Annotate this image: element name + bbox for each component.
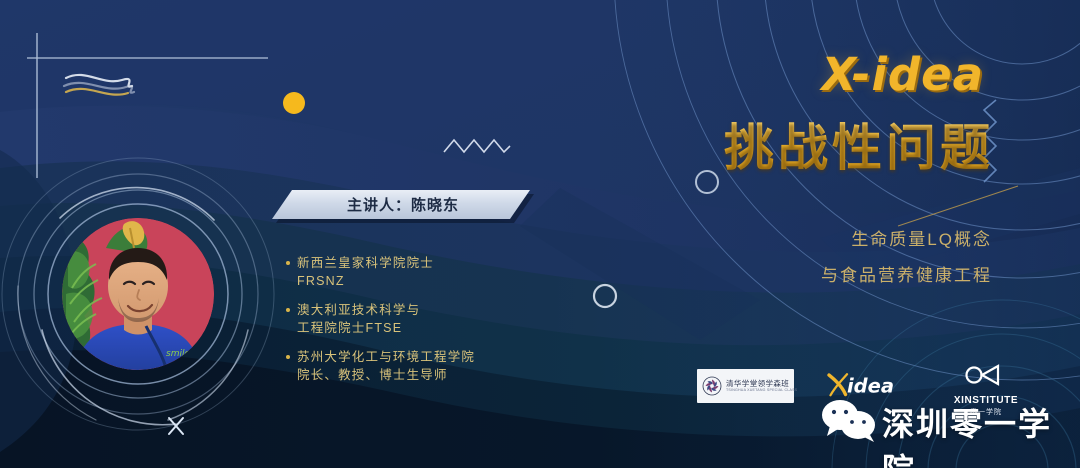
subtitle-line-1: 生命质量LQ概念 [821,222,992,258]
bullet-dot-icon [286,308,290,312]
xinstitute-bowtie-icon [944,362,1028,388]
list-item: 苏州大学化工与环境工程学院 院长、教授、博士生导师 [286,348,536,384]
tsinghua-name-en: TSINGHUA XUETANG SPECIAL CLASS [726,388,797,393]
credential-line: 澳大利亚技术科学与 [297,301,420,319]
yellow-dot [283,92,305,114]
bullet-dot-icon [286,261,290,265]
speaker-name-banner: 主讲人：陈晓东 [272,190,530,219]
page-title: 挑战性问题 [724,108,994,180]
xidea-logo: idea [826,372,916,398]
credential-line: 苏州大学化工与环境工程学院 [297,348,475,366]
brand-title: X-idea [821,48,984,101]
credential-line: FRSNZ [297,272,434,290]
credential-text: 苏州大学化工与环境工程学院 院长、教授、博士生导师 [297,348,475,384]
bullet-dot-icon [286,355,290,359]
wechat-name-cn: 深圳零一学院 [882,399,1080,468]
zigzag-horizontal [444,140,510,152]
speaker-portrait: smile [62,218,214,370]
ring-under-title [696,171,718,193]
tsinghua-text: 清华学堂领学森班 TSINGHUA XUETANG SPECIAL CLASS [726,379,797,393]
squiggle-decor [64,75,134,95]
xidea-wordmark-icon: idea [826,372,916,398]
poster-canvas: smile 主讲人：陈晓东 新西兰皇家科学院院士 FRSNZ 澳大利亚技术科学与… [0,0,1080,468]
wechat-icon [820,398,878,442]
tsinghua-name-cn: 清华学堂领学森班 [726,379,797,388]
svg-text:idea: idea [847,374,894,397]
wechat-account: 深圳零一学院 [820,398,1080,446]
list-item: 澳大利亚技术科学与 工程院院士FTSE [286,301,536,337]
credentials-list: 新西兰皇家科学院院士 FRSNZ 澳大利亚技术科学与 工程院院士FTSE 苏州大… [286,254,536,395]
credential-line: 新西兰皇家科学院院士 [297,254,434,272]
list-item: 新西兰皇家科学院院士 FRSNZ [286,254,536,290]
credential-line: 工程院院士FTSE [297,319,420,337]
ring-mid [594,285,616,307]
subtitle: 生命质量LQ概念 与食品营养健康工程 [821,222,992,294]
tsinghua-emblem-icon [702,376,722,396]
subtitle-line-2: 与食品营养健康工程 [821,258,992,294]
tsinghua-logo: 清华学堂领学森班 TSINGHUA XUETANG SPECIAL CLASS [697,369,794,403]
credential-line: 院长、教授、博士生导师 [297,366,475,384]
portrait-illustration: smile [62,218,214,370]
credential-text: 新西兰皇家科学院院士 FRSNZ [297,254,434,290]
speaker-name-label: 主讲人：陈晓东 [272,190,530,219]
credential-text: 澳大利亚技术科学与 工程院院士FTSE [297,301,420,337]
